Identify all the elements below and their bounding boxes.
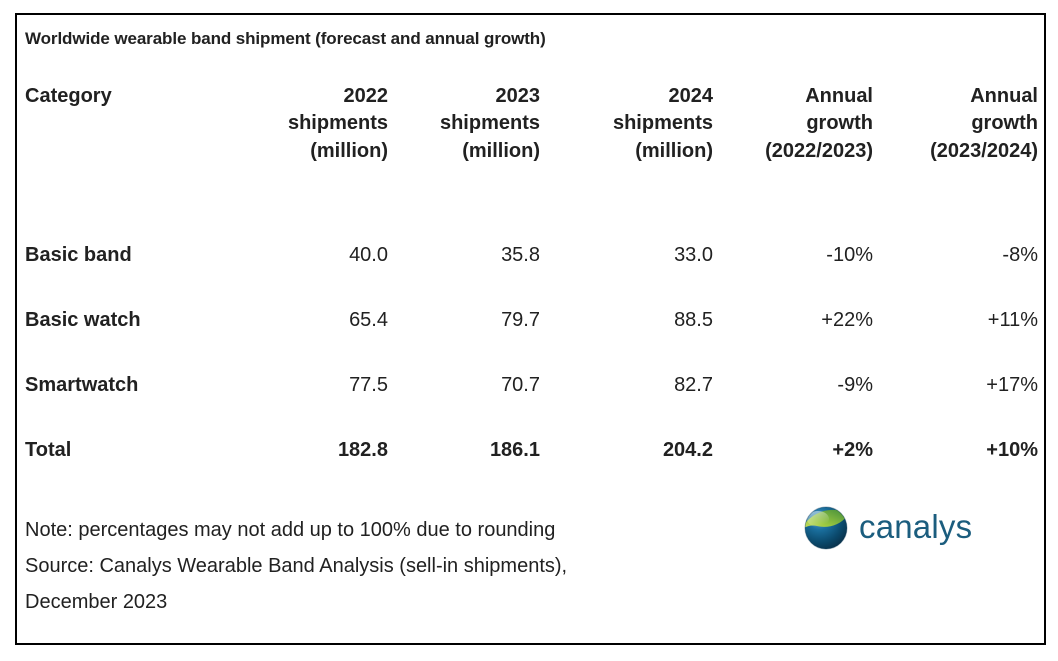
column-header-shipments-2024: 2024 shipments (million) <box>540 81 713 223</box>
cell-shipments-2022: 65.4 <box>236 288 388 353</box>
header-line-1: Annual <box>873 83 1038 110</box>
column-header-growth-2023-2024: Annual growth (2023/2024) <box>873 81 1038 223</box>
column-header-shipments-2022: 2022 shipments (million) <box>236 81 388 223</box>
header-line-3: (million) <box>388 138 540 165</box>
row-label-total: Total <box>25 418 236 483</box>
cell-shipments-2022: 40.0 <box>236 223 388 288</box>
header-line-3: (2022/2023) <box>713 138 873 165</box>
cell-shipments-2023: 35.8 <box>388 223 540 288</box>
table-row-total: Total 182.8 186.1 204.2 +2% +10% <box>25 418 1038 483</box>
page-title: Worldwide wearable band shipment (foreca… <box>25 29 546 49</box>
cell-total-shipments-2022: 182.8 <box>236 418 388 483</box>
header-line-2: growth <box>873 110 1038 137</box>
table-row: Smartwatch 77.5 70.7 82.7 -9% +17% <box>25 353 1038 418</box>
header-line-3: (2023/2024) <box>873 138 1038 165</box>
canalys-wordmark: canalys <box>859 508 972 545</box>
cell-growth-2023-2024: -8% <box>873 223 1038 288</box>
cell-shipments-2023: 70.7 <box>388 353 540 418</box>
table-row: Basic band 40.0 35.8 33.0 -10% -8% <box>25 223 1038 288</box>
header-line-3: (million) <box>236 138 388 165</box>
cell-shipments-2024: 88.5 <box>540 288 713 353</box>
table-row: Basic watch 65.4 79.7 88.5 +22% +11% <box>25 288 1038 353</box>
cell-shipments-2023: 79.7 <box>388 288 540 353</box>
header-line-3: (million) <box>540 138 713 165</box>
cell-growth-2022-2023: -10% <box>713 223 873 288</box>
cell-growth-2023-2024: +11% <box>873 288 1038 353</box>
cell-total-growth-2022-2023: +2% <box>713 418 873 483</box>
cell-growth-2023-2024: +17% <box>873 353 1038 418</box>
row-label-basic-watch: Basic watch <box>25 288 236 353</box>
cell-growth-2022-2023: -9% <box>713 353 873 418</box>
canalys-logo: canalys <box>803 504 1003 552</box>
table-header-row: Category 2022 shipments (million) 2023 s… <box>25 81 1038 223</box>
canalys-logo-svg: canalys <box>803 504 1003 552</box>
shipment-table: Category 2022 shipments (million) 2023 s… <box>25 81 1038 483</box>
header-line-2: shipments <box>388 110 540 137</box>
cell-total-shipments-2024: 204.2 <box>540 418 713 483</box>
cell-total-shipments-2023: 186.1 <box>388 418 540 483</box>
column-header-growth-2022-2023: Annual growth (2022/2023) <box>713 81 873 223</box>
footnote-source: Source: Canalys Wearable Band Analysis (… <box>25 548 567 584</box>
header-line-1: Annual <box>713 83 873 110</box>
canalys-globe-icon <box>803 507 849 549</box>
header-line-1: 2023 <box>388 83 540 110</box>
row-label-basic-band: Basic band <box>25 223 236 288</box>
header-line-2: shipments <box>236 110 388 137</box>
footnotes: Note: percentages may not add up to 100%… <box>25 512 567 620</box>
cell-growth-2022-2023: +22% <box>713 288 873 353</box>
header-line-2: growth <box>713 110 873 137</box>
header-line-2: shipments <box>540 110 713 137</box>
cell-shipments-2022: 77.5 <box>236 353 388 418</box>
cell-total-growth-2023-2024: +10% <box>873 418 1038 483</box>
cell-shipments-2024: 82.7 <box>540 353 713 418</box>
cell-shipments-2024: 33.0 <box>540 223 713 288</box>
column-header-shipments-2023: 2023 shipments (million) <box>388 81 540 223</box>
column-header-category: Category <box>25 81 236 223</box>
figure-container: Worldwide wearable band shipment (foreca… <box>15 13 1046 645</box>
header-line-1: 2022 <box>236 83 388 110</box>
header-line-1: 2024 <box>540 83 713 110</box>
row-label-smartwatch: Smartwatch <box>25 353 236 418</box>
footnote-date: December 2023 <box>25 584 567 620</box>
footnote-rounding: Note: percentages may not add up to 100%… <box>25 512 567 548</box>
